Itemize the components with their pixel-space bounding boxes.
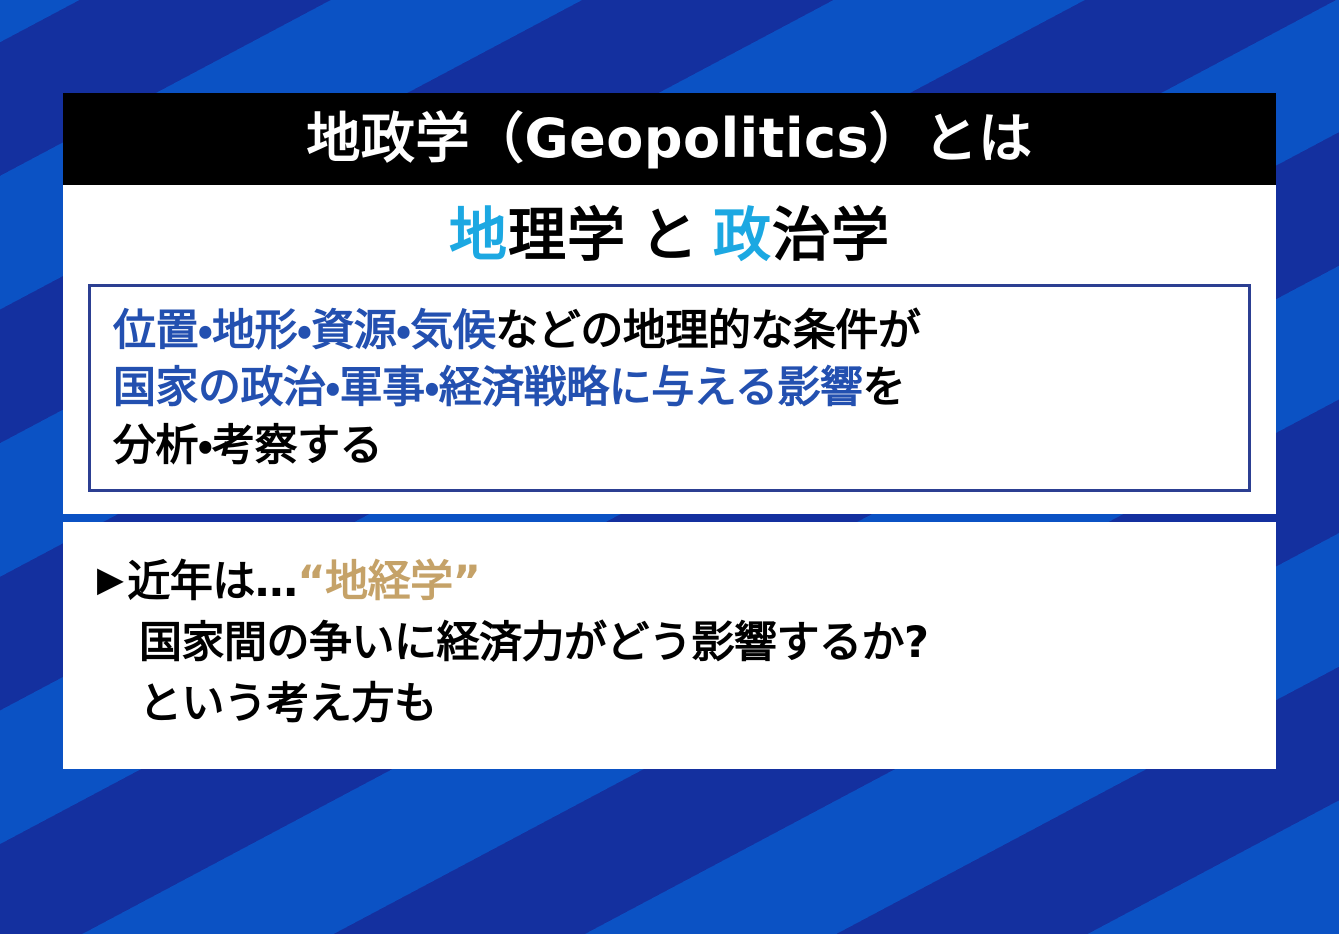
note-body-line-2-text: という考え方も: [139, 679, 437, 729]
subtitle-heading: 地理学と政治学: [88, 199, 1251, 272]
panel-divider: [63, 514, 1276, 522]
subtitle-conjunction: と: [640, 201, 699, 269]
definition-line-1-accent: 位置・地形・資源・気候: [113, 306, 495, 356]
definition-line-2-plain: を: [862, 363, 905, 413]
note-panel: ▶近年は…“地経学” 国家間の争いに経済力がどう影響するか? という考え方も: [63, 522, 1276, 769]
content-card-stack: 地政学（Geopolitics）とは 地理学と政治学 位置・地形・資源・気候など…: [63, 93, 1276, 769]
definition-box: 位置・地形・資源・気候などの地理的な条件が 国家の政治・軍事・経済戦略に与える影…: [88, 284, 1251, 493]
note-body-line-2: という考え方も: [97, 674, 1251, 735]
page-title: 地政学（Geopolitics）とは: [306, 112, 1032, 166]
subtitle-highlight-sei: 政: [713, 201, 772, 269]
slide-background: 地政学（Geopolitics）とは 地理学と政治学 位置・地形・資源・気候など…: [0, 0, 1339, 934]
note-body-line-1-text: 国家間の争いに経済力がどう影響するか?: [139, 618, 928, 668]
definition-line-2-accent: 国家の政治・軍事・経済戦略に与える影響: [113, 363, 862, 413]
slide-title-bar: 地政学（Geopolitics）とは: [63, 93, 1276, 185]
definition-line-2: 国家の政治・軍事・経済戦略に与える影響を: [113, 360, 1228, 418]
triangle-bullet-icon: ▶: [97, 563, 123, 598]
definition-line-3: 分析・考察する: [113, 418, 1228, 476]
definition-line-1: 位置・地形・資源・気候などの地理的な条件が: [113, 303, 1228, 361]
definition-line-1-plain: などの地理的な条件が: [495, 306, 920, 356]
note-lead-line: ▶近年は…“地経学”: [97, 552, 1251, 613]
definition-line-3-plain: 分析・考察する: [113, 421, 382, 471]
subtitle-rest-jigaku: 治学: [772, 201, 890, 269]
note-lead-text: 近年は…: [127, 557, 297, 607]
subtitle-rest-rigaku: 理学: [508, 201, 626, 269]
note-body-line-1: 国家間の争いに経済力がどう影響するか?: [97, 613, 1251, 674]
subtitle-highlight-chi: 地: [449, 201, 508, 269]
definition-panel: 地理学と政治学 位置・地形・資源・気候などの地理的な条件が 国家の政治・軍事・経…: [63, 185, 1276, 514]
note-gold-term: “地経学”: [297, 557, 480, 607]
